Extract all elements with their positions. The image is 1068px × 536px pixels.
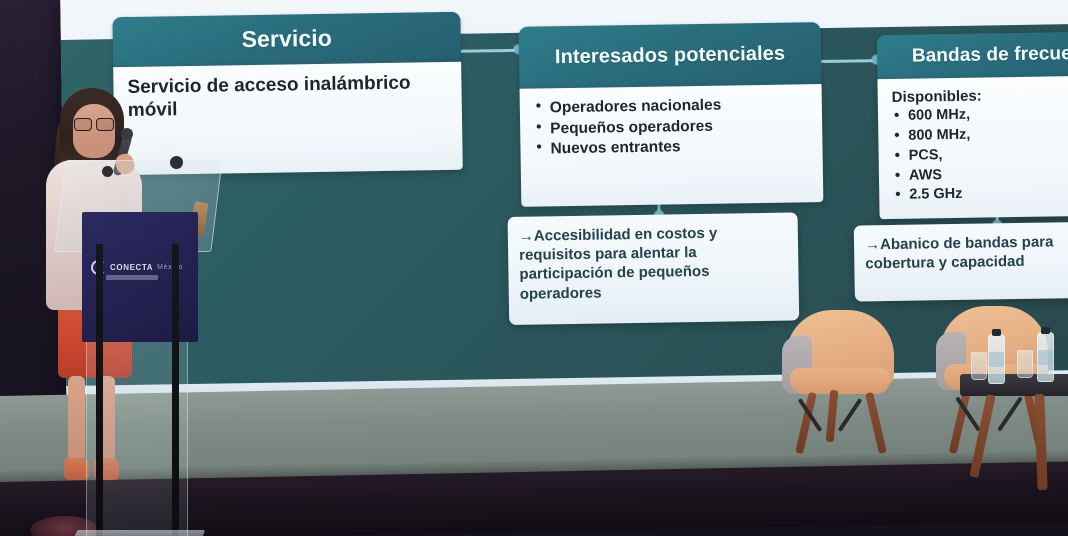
outcome-abanico-text: →Abanico de bandas para cobertura y capa…: [865, 232, 1068, 274]
lectern: CONECTA México: [60, 160, 215, 480]
side-table: [960, 374, 1068, 484]
chair-leg: [826, 390, 839, 442]
podium-microphone-icon: [170, 156, 183, 169]
microphone-head: [121, 128, 133, 140]
card-bandas-title: Bandas de frecuencia: [877, 31, 1068, 79]
water-bottle: [988, 334, 1005, 384]
card-bandas-list: 600 MHz, 800 MHz, PCS, AWS 2.5 GHz: [892, 103, 1068, 205]
drinking-glass: [1017, 350, 1033, 378]
outcome-accesibilidad[interactable]: →Accesibilidad en costos y requisitos pa…: [508, 212, 800, 325]
chair-seat: [790, 368, 890, 394]
lectern-post: [172, 244, 179, 536]
card-servicio-title: Servicio: [112, 12, 461, 67]
bottle-label: [1038, 350, 1053, 365]
lectern-base: [71, 530, 205, 536]
outcome-accesibilidad-text: →Accesibilidad en costos y requisitos pa…: [519, 223, 787, 304]
eyeglasses-icon: [73, 118, 115, 129]
podium-microphone-icon: [102, 166, 113, 177]
card-interesados-title: Interesados potenciales: [519, 22, 822, 89]
chair-left: [786, 310, 906, 460]
bottle-label: [989, 352, 1004, 367]
drinking-glass: [971, 352, 987, 380]
face: [73, 104, 115, 158]
card-servicio-lead: Servicio de acceso inalámbrico móvil: [127, 72, 450, 123]
list-item: 800 MHz,: [892, 123, 1068, 146]
chair-leg-wire: [838, 398, 863, 432]
conecta-logo-subtext: México: [157, 264, 183, 271]
table-leg: [969, 394, 995, 478]
card-interesados-body: Operadores nacionales Pequeños operadore…: [520, 84, 824, 207]
table-leg: [1034, 394, 1047, 490]
card-bandas[interactable]: Bandas de frecuencia Disponibles: 600 MH…: [877, 31, 1068, 219]
card-bandas-body: Disponibles: 600 MHz, 800 MHz, PCS, AWS …: [877, 75, 1068, 219]
conecta-logo: CONECTA México: [91, 260, 183, 275]
card-bandas-subtitle: Disponibles:: [892, 85, 1068, 106]
water-bottle: [1037, 332, 1054, 382]
conference-stage-photo: Servicio Servicio de acceso inalámbrico …: [0, 0, 1068, 536]
chair-leg: [865, 392, 887, 454]
outcome-accesibilidad-body: Accesibilidad en costos y requisitos par…: [519, 225, 717, 303]
list-item: PCS,: [893, 143, 1068, 166]
list-item: 2.5 GHz: [893, 183, 1068, 206]
outcome-abanico[interactable]: →Abanico de bandas para cobertura y capa…: [854, 221, 1068, 301]
arrow-icon: →: [865, 236, 880, 253]
card-interesados-list: Operadores nacionales Pequeños operadore…: [534, 94, 811, 159]
logo-underbar: [106, 275, 158, 280]
lectern-post: [96, 244, 103, 536]
outcome-abanico-body: Abanico de bandas para cobertura y capac…: [865, 233, 1053, 272]
list-item: AWS: [893, 163, 1068, 186]
list-item: Nuevos entrantes: [534, 135, 810, 159]
arrow-icon: →: [519, 228, 534, 245]
conecta-logo-text: CONECTA: [110, 263, 153, 272]
list-item: 600 MHz,: [892, 103, 1068, 126]
card-interesados[interactable]: Interesados potenciales Operadores nacio…: [519, 22, 824, 207]
